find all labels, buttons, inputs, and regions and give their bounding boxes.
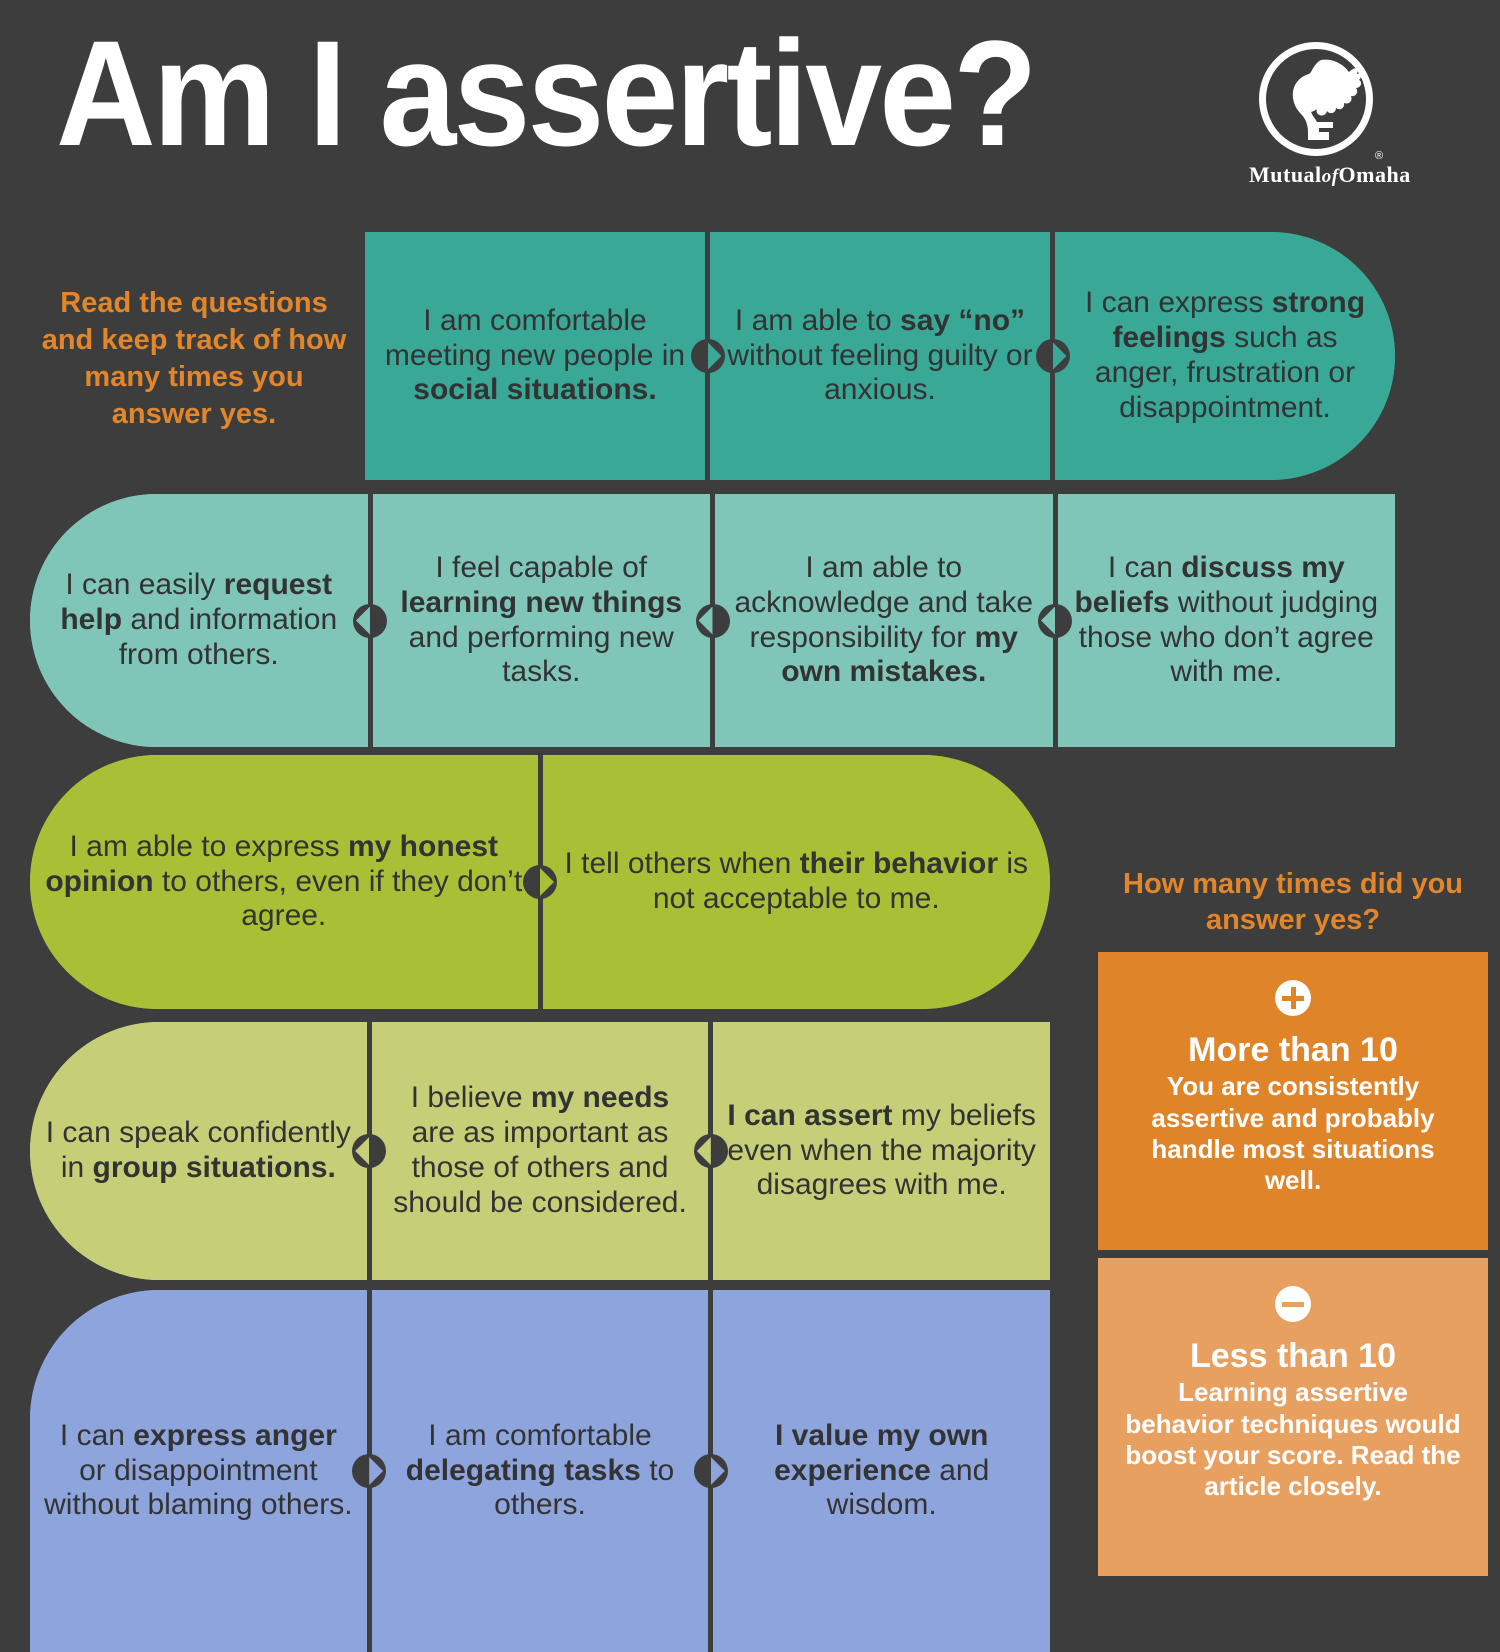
question-card[interactable]: I can easily request help and informatio… <box>30 494 373 747</box>
arrow-left-icon <box>694 1134 728 1168</box>
question-card[interactable]: I can express strong feelings such as an… <box>1055 232 1395 480</box>
question-row-4: I can speak confidently in group situati… <box>30 1022 1050 1280</box>
question-card[interactable]: I am comfortable meeting new people in s… <box>365 232 710 480</box>
registered-mark: ® <box>1375 150 1383 162</box>
question-card[interactable]: I am comfortable delegating tasks to oth… <box>372 1290 714 1652</box>
question-text: I tell others when their behavior is not… <box>557 847 1037 917</box>
question-card[interactable]: I can express anger or disappointment wi… <box>30 1290 372 1652</box>
page-title: Am I assertive? <box>56 18 1035 168</box>
result-panel-more-than-10: More than 10 You are consistently assert… <box>1098 952 1488 1250</box>
question-card[interactable]: I feel capable of learning new things an… <box>373 494 716 747</box>
infographic-canvas: Am I assertive? ® MutualofOmaha Read the… <box>0 0 1500 1652</box>
result-heading: Less than 10 <box>1124 1338 1462 1375</box>
question-text: I can express strong feelings such as an… <box>1069 286 1381 425</box>
instruction-text: Read the questions and keep track of how… <box>38 285 350 433</box>
arrow-right-icon <box>1036 339 1070 373</box>
arrow-left-icon <box>1038 604 1072 638</box>
logo-brand: Mutual <box>1249 162 1322 187</box>
result-panel-less-than-10: Less than 10 Learning assertive behavior… <box>1098 1258 1488 1576</box>
question-card[interactable]: I am able to express my honest opinion t… <box>30 755 543 1009</box>
question-text: I believe my needs are as important as t… <box>386 1081 695 1220</box>
arrow-left-icon <box>696 604 730 638</box>
result-heading: More than 10 <box>1124 1032 1462 1069</box>
logo-wordmark: MutualofOmaha <box>1249 162 1384 188</box>
result-body: Learning assertive behavior techniques w… <box>1124 1377 1462 1502</box>
question-text: I feel capable of learning new things an… <box>387 551 697 690</box>
question-card[interactable]: I can discuss my beliefs without judging… <box>1058 494 1396 747</box>
question-card[interactable]: I can assert my beliefs even when the ma… <box>713 1022 1050 1280</box>
minus-icon <box>1275 1286 1311 1322</box>
question-row-2: I can easily request help and informatio… <box>30 494 1395 747</box>
question-text: I can assert my beliefs even when the ma… <box>727 1099 1036 1203</box>
question-text: I am comfortable delegating tasks to oth… <box>386 1419 695 1523</box>
arrow-left-icon <box>353 604 387 638</box>
question-text: I can discuss my beliefs without judging… <box>1072 551 1382 690</box>
score-prompt-text: How many times did you answer yes? <box>1098 866 1488 939</box>
question-text: I can easily request help and informatio… <box>44 568 354 672</box>
question-text: I value my own experience and wisdom. <box>727 1419 1036 1523</box>
arrow-right-icon <box>523 865 557 899</box>
question-card[interactable]: I believe my needs are as important as t… <box>372 1022 714 1280</box>
question-text: I am comfortable meeting new people in s… <box>379 304 691 408</box>
question-card[interactable]: I value my own experience and wisdom. <box>713 1290 1050 1652</box>
question-row-5: I can express anger or disappointment wi… <box>30 1290 1050 1652</box>
question-text: I can speak confidently in group situati… <box>44 1116 353 1186</box>
mutual-of-omaha-logo: ® MutualofOmaha <box>1249 42 1384 197</box>
question-card[interactable]: I am able to acknowledge and take respon… <box>715 494 1058 747</box>
question-text: I am able to express my honest opinion t… <box>44 830 524 934</box>
arrow-right-icon <box>694 1454 728 1488</box>
logo-connector: of <box>1322 166 1339 187</box>
question-text: I can express anger or disappointment wi… <box>44 1419 353 1523</box>
question-text: I am able to say “no” without feeling gu… <box>724 304 1036 408</box>
question-row-3: I am able to express my honest opinion t… <box>30 755 1050 1009</box>
result-body: You are consistently assertive and proba… <box>1124 1071 1462 1196</box>
question-card[interactable]: I tell others when their behavior is not… <box>543 755 1051 1009</box>
question-card[interactable]: I can speak confidently in group situati… <box>30 1022 372 1280</box>
question-row-1: I am comfortable meeting new people in s… <box>365 232 1395 480</box>
question-text: I am able to acknowledge and take respon… <box>729 551 1039 690</box>
logo-brand2: Omaha <box>1339 162 1411 187</box>
question-card[interactable]: I am able to say “no” without feeling gu… <box>710 232 1055 480</box>
arrow-right-icon <box>691 339 725 373</box>
chief-head-logo-icon <box>1271 54 1363 146</box>
arrow-left-icon <box>352 1134 386 1168</box>
arrow-right-icon <box>352 1454 386 1488</box>
plus-icon <box>1275 980 1311 1016</box>
